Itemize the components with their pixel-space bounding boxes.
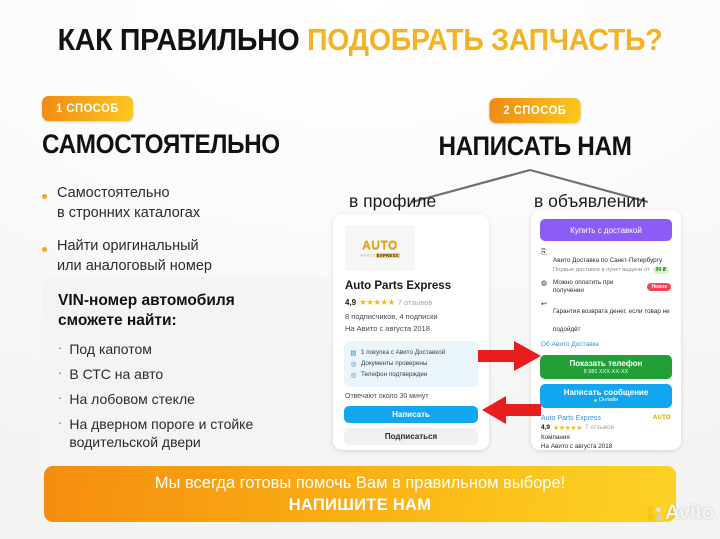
- show-phone-label: Показать телефон: [570, 359, 643, 368]
- seller-name[interactable]: Auto Parts Express: [541, 415, 671, 422]
- check-circle-icon: ◎: [350, 371, 357, 379]
- return-arrow-icon: ↩: [541, 300, 549, 336]
- list-item: Найти оригинальный или аналоговый номер: [42, 237, 332, 276]
- buy-with-delivery-button[interactable]: Купить с доставкой: [540, 219, 672, 241]
- seller-logo: AUTO: [653, 415, 671, 421]
- star-rating-icon: ★★★★★: [359, 297, 395, 308]
- page-title: КАК ПРАВИЛЬНО ПОДОБРАТЬ ЗАПЧАСТЬ?: [29, 22, 691, 58]
- poster-canvas: КАК ПРАВИЛЬНО ПОДОБРАТЬ ЗАПЧАСТЬ? 1 СПОС…: [0, 0, 720, 539]
- page-title-yellow: ПОДОБРАТЬ ЗАПЧАСТЬ?: [307, 22, 662, 57]
- method-one-bullets: Самостоятельно в стронних каталогах Найт…: [42, 184, 332, 276]
- feature-row: ↩ Гарантия возврата денег, если товар не…: [541, 300, 671, 336]
- bullet-text: Самостоятельно в стронних каталогах: [57, 184, 200, 223]
- avito-watermark: Avito: [647, 501, 714, 525]
- reviews-count[interactable]: 7 отзывов: [398, 298, 433, 307]
- seller-since: На Авито с августа 2018: [541, 443, 671, 450]
- list-item: · На лобовом стекле: [58, 390, 314, 408]
- trust-badge-label: 1 покупка с Авито Доставкой: [361, 349, 445, 357]
- vin-item-text: В СТС на авто: [69, 365, 163, 383]
- seller-rating-value: 4,9: [541, 424, 550, 431]
- new-badge: Новое: [647, 283, 671, 291]
- method-two-title: НАПИСАТЬ НАМ: [405, 131, 666, 162]
- feature-text: Авито Доставка по Санкт-Петербургу: [553, 257, 662, 264]
- member-since: На Авито с августа 2018: [345, 324, 480, 333]
- sublabel-profile: в профиле: [349, 191, 436, 212]
- masked-phone: 8 981 XXX-XX-XX: [584, 369, 629, 375]
- method-two-badge: 2 СПОСОБ: [490, 98, 581, 123]
- method-one-section: 1 СПОСОБ САМОСТОЯТЕЛЬНО Самостоятельно в…: [42, 96, 332, 290]
- show-phone-button[interactable]: Показать телефон 8 981 XXX-XX-XX: [540, 355, 672, 379]
- rating-value: 4,9: [345, 298, 356, 307]
- bullet-dot-icon: ·: [58, 340, 62, 358]
- send-message-button[interactable]: Написать сообщение Онлайн: [540, 384, 672, 408]
- profile-screenshot-card: AUTO PARTSEXPRESS Auto Parts Express 4,9…: [333, 214, 489, 450]
- feature-text: Гарантия возврата денег, если товар не п…: [553, 308, 670, 333]
- method-two-section: 2 СПОСОБ НАПИСАТЬ НАМ: [390, 98, 680, 162]
- page-title-black: КАК ПРАВИЛЬНО: [58, 22, 300, 57]
- bullet-dot-icon: [42, 247, 47, 252]
- arrow-right-icon: [478, 341, 542, 371]
- list-item: Самостоятельно в стронних каталогах: [42, 184, 332, 223]
- list-item: · В СТС на авто: [58, 365, 314, 383]
- write-message-button[interactable]: Написать: [344, 406, 478, 423]
- cta-banner[interactable]: Мы всегда готовы помочь Вам в правильном…: [44, 466, 676, 522]
- price-pill: 99 ₽: [653, 267, 669, 273]
- feature-subtext: Первые доставки в пункт выдачи от 99 ₽: [553, 267, 671, 274]
- bullet-dot-icon: [42, 194, 47, 199]
- wallet-icon: ◍: [541, 279, 549, 295]
- check-circle-icon: ◎: [350, 360, 357, 368]
- bullet-dot-icon: ·: [58, 365, 62, 383]
- vin-item-text: На дверном пороге и стойке водительской …: [69, 415, 253, 451]
- rating-row: 4,9 ★★★★★ 7 отзывов: [345, 297, 480, 308]
- delivery-box-icon: ▤: [350, 349, 357, 357]
- vin-card-title: VIN-номер автомобиля сможете найти:: [58, 291, 314, 331]
- ad-screenshot-card: Купить с доставкой ⎘ Авито Доставка по С…: [531, 210, 681, 450]
- bullet-dot-icon: ·: [58, 390, 62, 408]
- method-one-title: САМОСТОЯТЕЛЬНО: [42, 129, 303, 160]
- trust-badge-label: Телефон подтвержден: [361, 371, 427, 379]
- feature-text: Можно оплатить при получении: [553, 279, 643, 295]
- seller-block: AUTO Auto Parts Express 4,9 ★★★★★ 7 отзы…: [541, 415, 671, 450]
- avito-wordmark: Avito: [665, 501, 714, 525]
- seller-rating-row: 4,9 ★★★★★ 7 отзывов: [541, 424, 671, 432]
- online-status: Онлайн: [594, 397, 619, 403]
- vin-info-card: VIN-номер автомобиля сможете найти: · По…: [42, 277, 330, 475]
- online-dot-icon: [594, 399, 597, 402]
- shop-logo: AUTO PARTSEXPRESS: [345, 225, 415, 271]
- shop-name: Auto Parts Express: [345, 280, 480, 292]
- cta-banner-line1: Мы всегда готовы помочь Вам в правильном…: [155, 474, 566, 493]
- trust-badge: ◎ Документы проверены: [350, 360, 472, 368]
- seller-type: Компания: [541, 434, 671, 441]
- bullet-text: Найти оригинальный или аналоговый номер: [57, 237, 212, 276]
- followers-count: 8 подписчиков, 4 подписки: [345, 312, 480, 321]
- shop-logo-main: AUTO: [362, 238, 398, 252]
- vin-item-text: Под капотом: [69, 340, 152, 358]
- feature-row: ⎘ Авито Доставка по Санкт-Петербургу Пер…: [541, 249, 671, 274]
- delivery-truck-icon: ⎘: [541, 249, 549, 274]
- answer-time: Отвечают около 30 минут: [345, 393, 480, 400]
- shop-logo-sub-express: EXPRESS: [376, 253, 400, 258]
- sublabel-ad: в объявлении: [534, 191, 646, 212]
- shop-logo-sub: PARTSEXPRESS: [360, 253, 399, 258]
- trust-badge-label: Документы проверены: [361, 360, 427, 368]
- bullet-dot-icon: ·: [58, 415, 62, 451]
- list-item: · На дверном пороге и стойке водительско…: [58, 415, 314, 451]
- list-item: · Под капотом: [58, 340, 314, 358]
- star-rating-icon: ★★★★★: [553, 424, 582, 432]
- arrow-left-icon: [482, 396, 542, 424]
- feature-row: ◍ Можно оплатить при получении Новое: [541, 279, 671, 295]
- seller-reviews-count[interactable]: 7 отзывов: [585, 424, 614, 431]
- vin-item-text: На лобовом стекле: [69, 390, 195, 408]
- feature-sub-label: Первые доставки в пункт выдачи от: [553, 267, 650, 274]
- cta-banner-line2: НАПИШИТЕ НАМ: [289, 496, 432, 515]
- trust-badge: ◎ Телефон подтвержден: [350, 371, 472, 379]
- shop-logo-sub-parts: PARTS: [360, 253, 375, 258]
- method-one-badge: 1 СПОСОБ: [42, 96, 133, 121]
- about-delivery-link[interactable]: Об Авито Доставке: [541, 341, 671, 348]
- trust-badge-panel: ▤ 1 покупка с Авито Доставкой ◎ Документ…: [344, 341, 478, 387]
- online-status-label: Онлайн: [599, 397, 619, 403]
- subscribe-button[interactable]: Подписаться: [344, 428, 478, 445]
- trust-badge: ▤ 1 покупка с Авито Доставкой: [350, 349, 472, 357]
- avito-logo-icon: [647, 506, 662, 520]
